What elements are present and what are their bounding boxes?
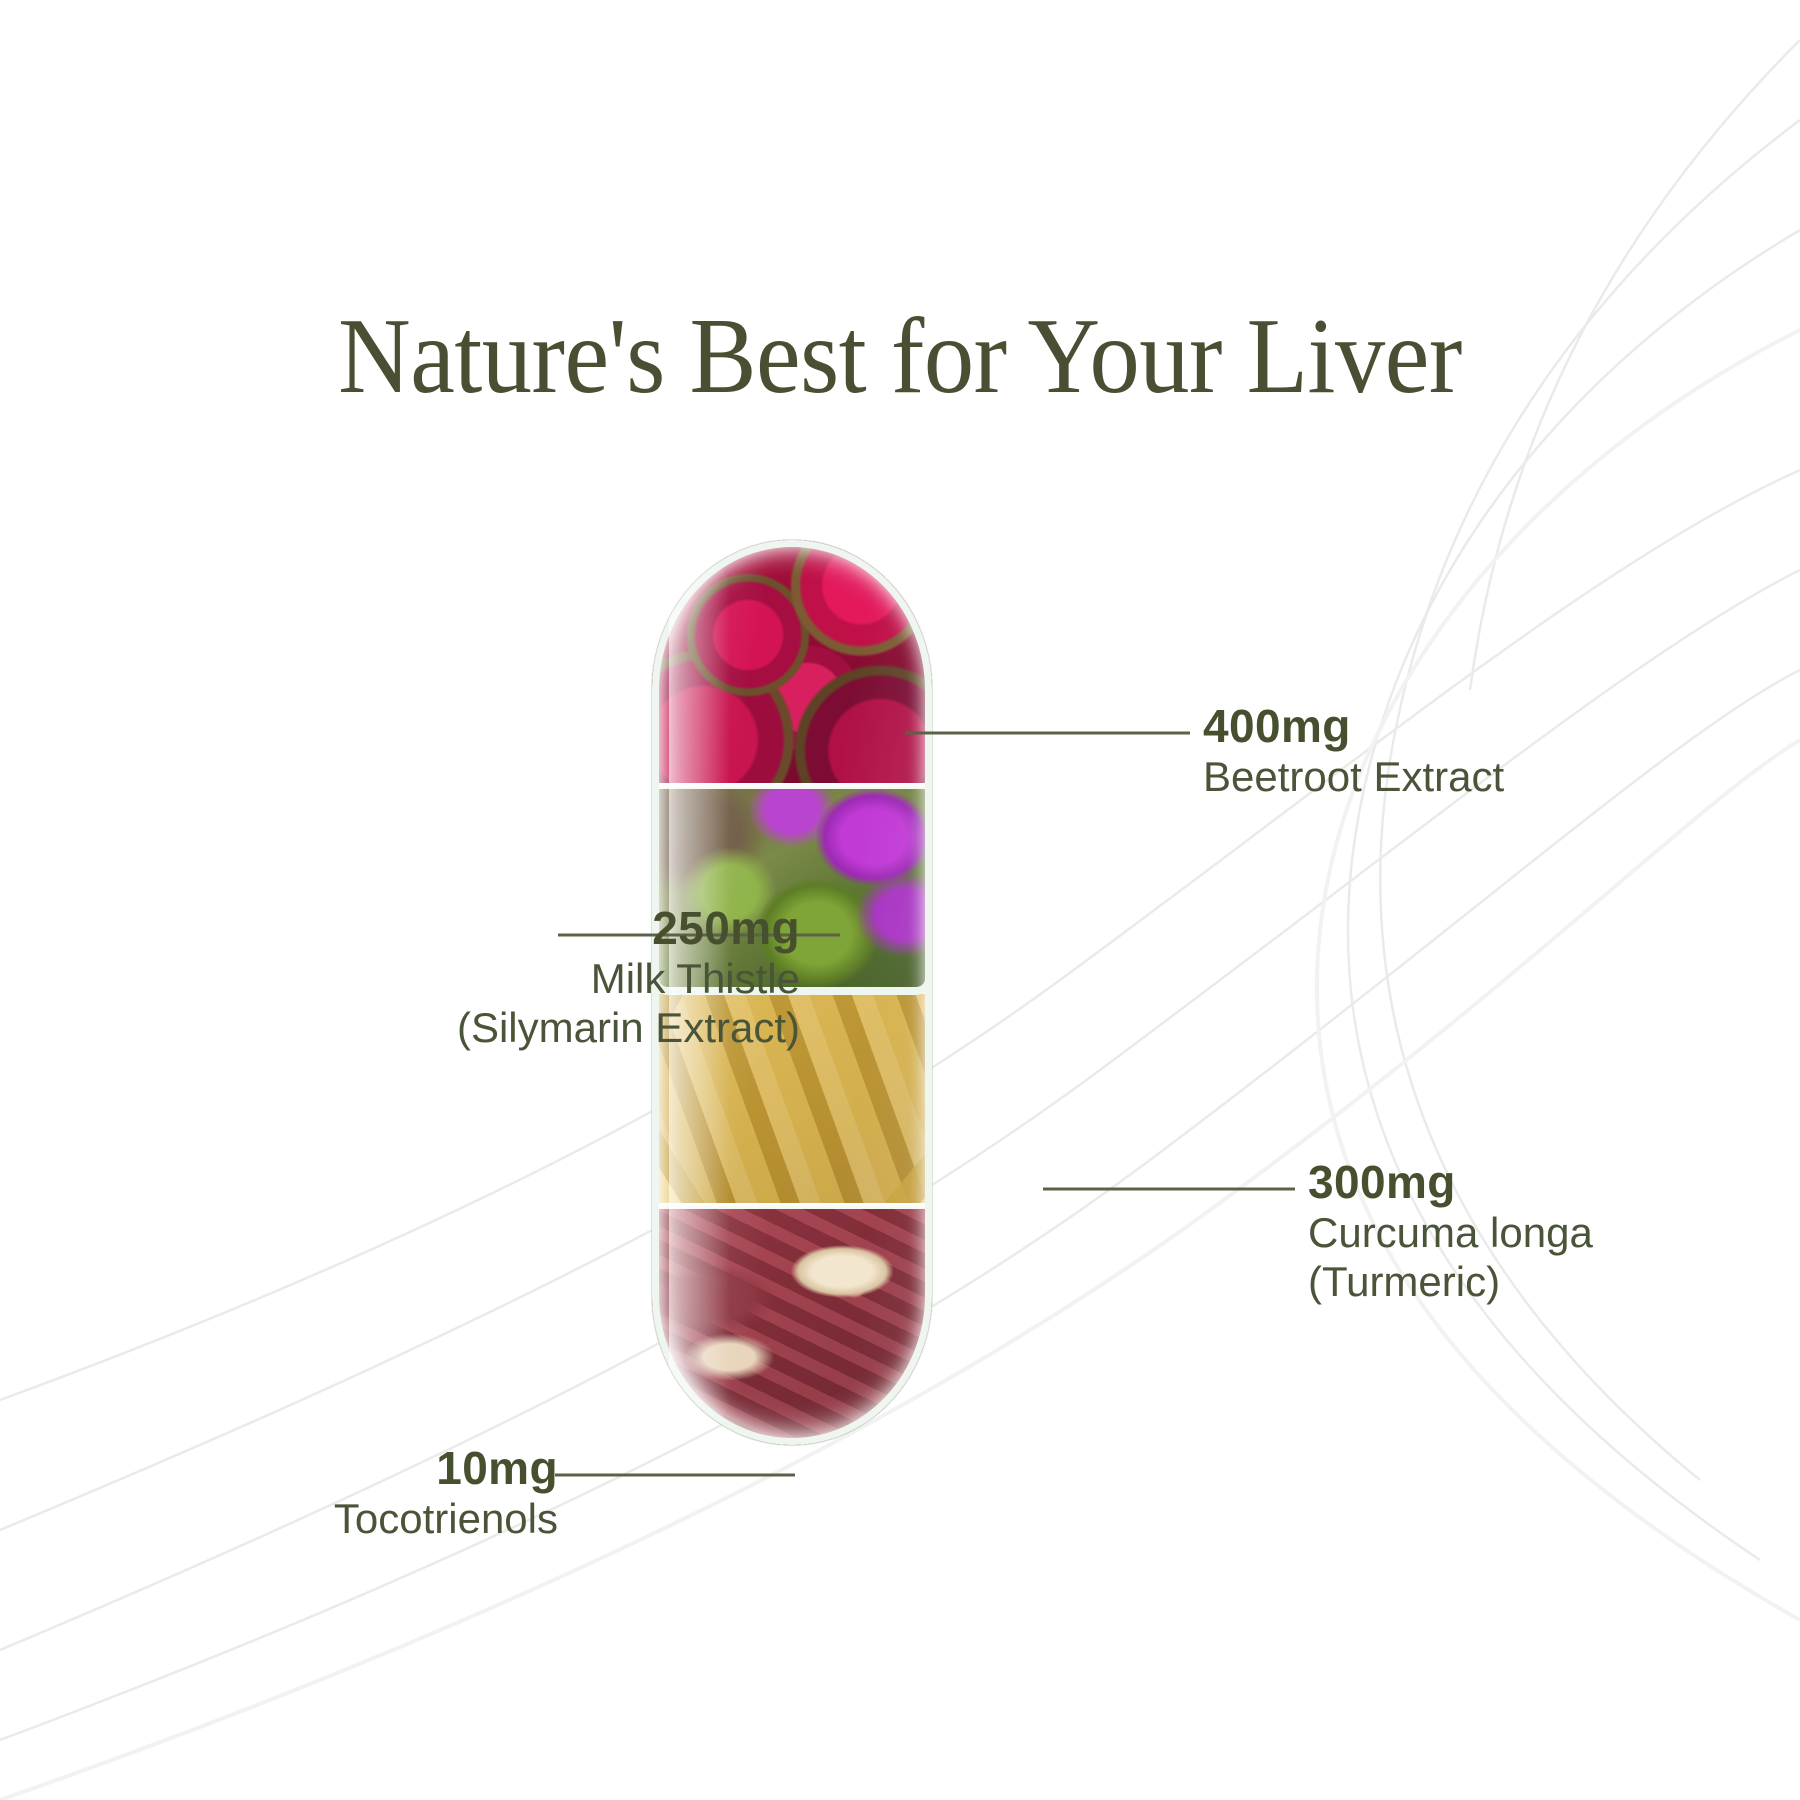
- capsule-segment-tocotrienols: [652, 1205, 932, 1445]
- infographic-canvas: Nature's Best for Your Liver: [0, 0, 1800, 1800]
- annatto-image: [652, 1205, 932, 1445]
- callout-dose-tocotrienols: 10mg: [334, 1444, 558, 1494]
- beetroot-image: [652, 540, 932, 785]
- callout-turmeric: 300mg Curcuma longa (Turmeric): [1308, 1158, 1593, 1307]
- callout-beetroot: 400mg Beetroot Extract: [1203, 702, 1504, 801]
- callout-name-beetroot: Beetroot Extract: [1203, 752, 1504, 802]
- segment-divider-3: [652, 1203, 932, 1209]
- capsule-segment-beetroot: [652, 540, 932, 785]
- page-title: Nature's Best for Your Liver: [63, 300, 1737, 413]
- callout-name-turmeric: Curcuma longa: [1308, 1208, 1593, 1258]
- segment-divider-1: [652, 783, 932, 789]
- callout-dose-milk-thistle: 250mg: [457, 904, 800, 954]
- callout-subname-milk-thistle: (Silymarin Extract): [457, 1003, 800, 1053]
- callout-milk-thistle: 250mg Milk Thistle (Silymarin Extract): [457, 904, 800, 1053]
- callout-dose-turmeric: 300mg: [1308, 1158, 1593, 1208]
- callout-name-tocotrienols: Tocotrienols: [334, 1494, 558, 1544]
- callout-name-milk-thistle: Milk Thistle: [457, 954, 800, 1004]
- callout-subname-turmeric: (Turmeric): [1308, 1257, 1593, 1307]
- callout-tocotrienols: 10mg Tocotrienols: [334, 1444, 558, 1543]
- callout-dose-beetroot: 400mg: [1203, 702, 1504, 752]
